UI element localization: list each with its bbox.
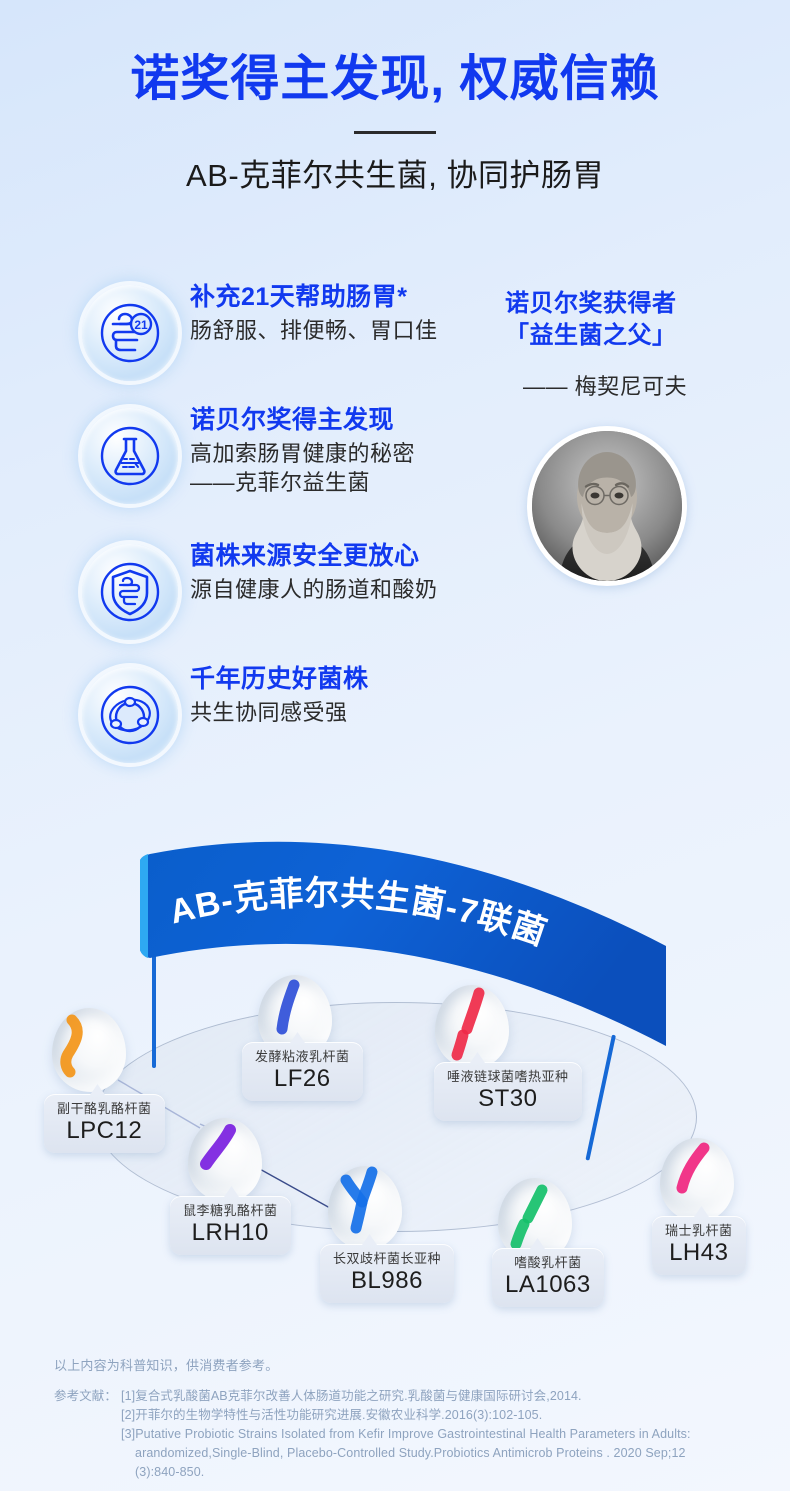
references-list: [1]复合式乳酸菌AB克菲尔改善人体肠道功能之研究.乳酸菌与健康国际研讨会,20… [121, 1387, 754, 1482]
badge-21: 21 [134, 318, 148, 332]
strain-label-bl986[interactable]: 长双歧杆菌长亚种 BL986 [320, 1244, 454, 1303]
strain-pod-bl986 [328, 1166, 402, 1250]
strain-label-lf26[interactable]: 发酵粘液乳杆菌 LF26 [242, 1042, 363, 1101]
strain-pod-lpc12 [52, 1008, 126, 1092]
strain-label-lpc12[interactable]: 副干酪乳酪杆菌 LPC12 [44, 1094, 165, 1153]
strain-name-cn: 长双歧杆菌长亚种 [333, 1251, 441, 1267]
references-label: 参考文献： [54, 1387, 121, 1482]
avatar [532, 431, 682, 581]
strain-name-cn: 唾液链球菌嗜热亚种 [447, 1069, 569, 1085]
feature-desc: 源自健康人的肠道和酸奶 [190, 575, 502, 604]
reference-item: [1]复合式乳酸菌AB克菲尔改善人体肠道功能之研究.乳酸菌与健康国际研讨会,20… [121, 1387, 754, 1406]
strain-label-lrh10[interactable]: 鼠李糖乳酪杆菌 LRH10 [170, 1196, 291, 1255]
strain-code: LPC12 [57, 1118, 152, 1144]
feature-item-history: 千年历史好菌株 共生协同感受强 [82, 664, 502, 787]
feature-title: 千年历史好菌株 [190, 664, 502, 695]
strain-label-lh43[interactable]: 瑞士乳杆菌 LH43 [652, 1216, 746, 1275]
molecule-cluster-icon [82, 667, 178, 763]
reference-continuation: (3):840-850. [121, 1463, 754, 1482]
strain-pod-st30 [435, 985, 509, 1069]
strain-label-la1063[interactable]: 嗜酸乳杆菌 LA1063 [492, 1248, 604, 1307]
feature-item-intestine: 21 补充21天帮助肠胃* 肠舒服、排便畅、胃口佳 [82, 282, 502, 405]
footer: 以上内容为科普知识，供消费者参考。 参考文献： [1]复合式乳酸菌AB克菲尔改善… [54, 1356, 754, 1482]
feature-title: 补充21天帮助肠胃* [190, 282, 502, 313]
strain-code: BL986 [333, 1268, 441, 1294]
feature-list: 21 补充21天帮助肠胃* 肠舒服、排便畅、胃口佳 诺贝尔奖得主发现 高加索肠胃… [82, 282, 502, 787]
shield-intestine-icon [82, 544, 178, 640]
reference-item: [2]开菲尔的生物学特性与活性功能研究进展.安徽农业科学.2016(3):102… [121, 1406, 754, 1425]
feature-desc: 共生协同感受强 [190, 698, 502, 727]
strain-name-cn: 发酵粘液乳杆菌 [255, 1049, 350, 1065]
strain-code: LRH10 [183, 1220, 278, 1246]
references: 参考文献： [1]复合式乳酸菌AB克菲尔改善人体肠道功能之研究.乳酸菌与健康国际… [54, 1387, 754, 1482]
reference-continuation: arandomized,Single-Blind, Placebo-Contro… [121, 1444, 754, 1463]
strain-name-cn: 副干酪乳酪杆菌 [57, 1101, 152, 1117]
feature-title: 菌株来源安全更放心 [190, 541, 502, 572]
reference-item: [3]Putative Probiotic Strains Isolated f… [121, 1425, 754, 1444]
nobel-block: 诺贝尔奖获得者 「益生菌之父」 —— 梅契尼可夫 [505, 288, 765, 401]
strain-code: LA1063 [505, 1272, 591, 1298]
strain-code: LF26 [255, 1066, 350, 1092]
portrait-frame [527, 426, 687, 586]
footer-note: 以上内容为科普知识，供消费者参考。 [54, 1356, 754, 1376]
strain-code: LH43 [665, 1240, 733, 1266]
strain-name-cn: 鼠李糖乳酪杆菌 [183, 1203, 278, 1219]
page-header: 诺奖得主发现, 权威信赖 AB-克菲尔共生菌, 协同护肠胃 [0, 52, 790, 195]
intestine-21-icon: 21 [82, 285, 178, 381]
feature-item-safety: 菌株来源安全更放心 源自健康人的肠道和酸奶 [82, 541, 502, 664]
nobel-title-line2: 「益生菌之父」 [505, 320, 765, 352]
strain-code: ST30 [447, 1086, 569, 1112]
nobel-attribution: —— 梅契尼可夫 [523, 369, 765, 401]
feature-desc: 肠舒服、排便畅、胃口佳 [190, 316, 502, 345]
feature-desc: 高加索肠胃健康的秘密 ——克菲尔益生菌 [190, 439, 502, 497]
page-subtitle: AB-克菲尔共生菌, 协同护肠胃 [0, 150, 790, 195]
banner-ribbon: AB-克菲尔共生菌-7联菌 [118, 848, 678, 1048]
marketing-page: 诺奖得主发现, 权威信赖 AB-克菲尔共生菌, 协同护肠胃 21 补充21天帮助… [0, 0, 790, 1491]
strain-pod-lrh10 [188, 1118, 262, 1202]
flask-icon [82, 408, 178, 504]
strain-name-cn: 嗜酸乳杆菌 [505, 1255, 591, 1271]
nobel-title-line1: 诺贝尔奖获得者 [505, 288, 765, 320]
strain-pod-lh43 [660, 1138, 734, 1222]
strain-name-cn: 瑞士乳杆菌 [665, 1223, 733, 1239]
feature-title: 诺贝尔奖得主发现 [190, 405, 502, 436]
title-divider [354, 131, 436, 134]
strain-label-st30[interactable]: 唾液链球菌嗜热亚种 ST30 [434, 1062, 582, 1121]
feature-item-nobel: 诺贝尔奖得主发现 高加索肠胃健康的秘密 ——克菲尔益生菌 [82, 405, 502, 541]
page-title: 诺奖得主发现, 权威信赖 [0, 52, 790, 107]
